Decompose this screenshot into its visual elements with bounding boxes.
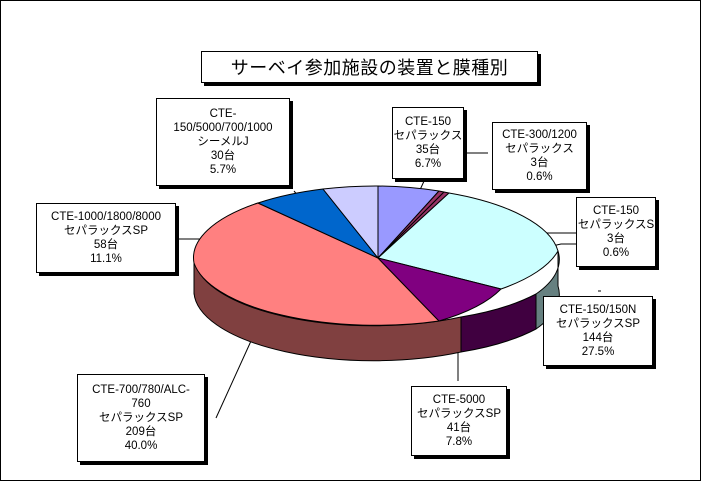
label-line: CTE-1000/1800/8000 — [51, 210, 161, 224]
label-cte700-780-alc760-sp: CTE-700/780/ALC- 760 セパラックスSP 209台 40.0% — [77, 374, 205, 462]
label-line: セパラックスSP — [99, 411, 183, 425]
label-percent: 0.6% — [603, 246, 629, 260]
page-title: サーベイ参加施設の装置と膜種別 — [201, 51, 538, 83]
label-percent: 40.0% — [125, 439, 158, 453]
label-percent: 11.1% — [90, 252, 122, 266]
label-line: セパラックスSP — [556, 317, 640, 331]
label-cte150-150n-sp: CTE-150/150N セパラックスSP 144台 27.5% — [543, 296, 653, 366]
label-shimel-j: CTE- 150/5000/700/1000 シーメルJ 30台 5.7% — [156, 98, 290, 186]
label-count: 144台 — [583, 331, 614, 345]
label-count: 3台 — [607, 232, 625, 246]
label-line: セパラックスS — [578, 218, 654, 232]
label-line: CTE-700/780/ALC- — [92, 383, 190, 397]
label-line: CTE-150 — [593, 204, 639, 218]
label-line: CTE-150 — [405, 115, 451, 129]
label-line: CTE-300/1200 — [502, 128, 577, 142]
label-percent: 27.5% — [582, 345, 615, 359]
label-percent: 0.6% — [526, 170, 552, 184]
label-line: セパラックス — [394, 129, 463, 143]
label-count: 58台 — [94, 238, 118, 252]
pie-top-slices — [194, 186, 558, 325]
label-count: 41台 — [447, 421, 471, 435]
label-cte150-separax-s: CTE-150 セパラックスS 3台 0.6% — [576, 197, 656, 267]
label-cte300-1200-separax: CTE-300/1200 セパラックス 3台 0.6% — [492, 122, 587, 190]
label-line: セパラックスSP — [64, 224, 148, 238]
label-line: CTE-5000 — [433, 393, 485, 407]
label-line: CTE-150/150N — [560, 303, 637, 317]
label-count: 209台 — [126, 425, 157, 439]
label-line: 150/5000/700/1000 — [173, 121, 272, 135]
label-cte5000-sp: CTE-5000 セパラックスSP 41台 7.8% — [411, 386, 507, 456]
label-line: セパラックスSP — [417, 407, 501, 421]
label-cte1000-1800-8000-sp: CTE-1000/1800/8000 セパラックスSP 58台 11.1% — [36, 203, 176, 273]
label-count: 3台 — [531, 156, 549, 170]
label-count: 30台 — [211, 149, 235, 163]
chart-canvas: サーベイ参加施設の装置と膜種別 CTE- 150/5000/700/1000 シ… — [0, 0, 701, 481]
label-percent: 6.7% — [415, 157, 441, 171]
label-percent: 7.8% — [446, 435, 472, 449]
label-cte150-separax: CTE-150 セパラックス 35台 6.7% — [392, 107, 464, 179]
label-line: 760 — [131, 397, 150, 411]
label-line: シーメルJ — [197, 135, 248, 149]
label-percent: 5.7% — [210, 163, 236, 177]
label-line: CTE- — [210, 107, 237, 121]
label-count: 35台 — [416, 143, 440, 157]
label-line: セパラックス — [505, 142, 574, 156]
